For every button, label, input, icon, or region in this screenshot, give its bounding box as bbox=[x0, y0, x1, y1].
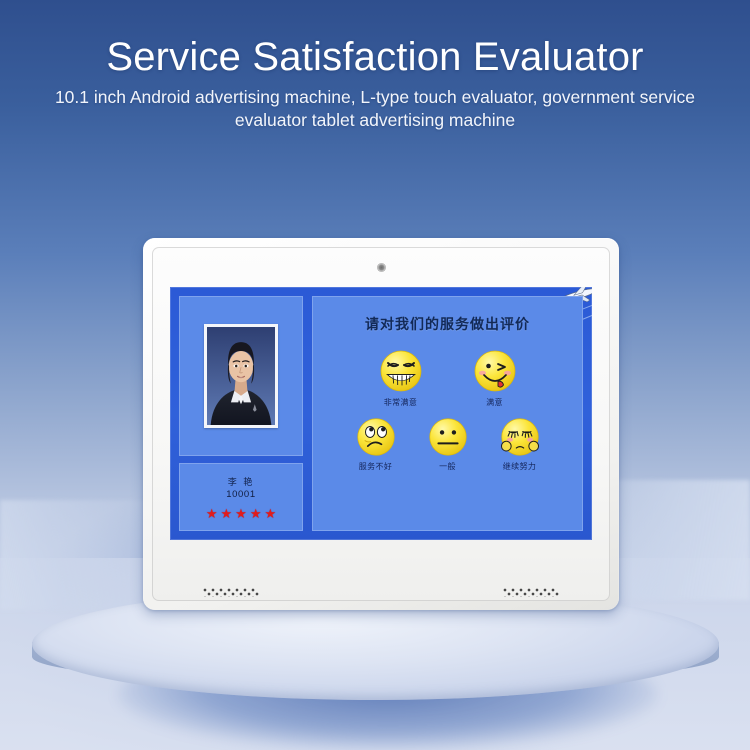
portrait-photo bbox=[207, 327, 275, 425]
rating-option-satisfied[interactable]: 满意 bbox=[472, 348, 518, 408]
photo-frame bbox=[204, 324, 278, 428]
rating-option-average[interactable]: 一般 bbox=[427, 416, 469, 472]
rating-option-keep-trying[interactable]: 继续努力 bbox=[499, 416, 541, 472]
rating-star: ★ bbox=[221, 507, 233, 520]
rating-option-label: 继续努力 bbox=[503, 461, 537, 472]
employee-photo-panel bbox=[179, 296, 303, 456]
rating-star: ★ bbox=[235, 507, 247, 520]
rating-panel: 请对我们的服务做出评价 bbox=[312, 296, 583, 531]
camera-dot-icon bbox=[377, 263, 386, 272]
winking-tongue-face-icon bbox=[472, 348, 518, 394]
rating-option-label: 满意 bbox=[486, 397, 503, 408]
speaker-grille-icon bbox=[503, 588, 559, 597]
speaker-grille-icon bbox=[203, 588, 259, 597]
rating-option-label: 服务不好 bbox=[359, 461, 393, 472]
rating-title: 请对我们的服务做出评价 bbox=[365, 314, 530, 334]
rating-option-very-satisfied[interactable]: 非常满意 bbox=[378, 348, 424, 408]
employee-info-panel: 李 艳 10001 ★★★★★ bbox=[179, 463, 303, 531]
page-subtitle: 10.1 inch Android advertising machine, L… bbox=[0, 86, 750, 132]
rating-star: ★ bbox=[264, 507, 276, 520]
rating-options-row-bottom: 服务不好 一般 bbox=[355, 416, 541, 472]
rating-star: ★ bbox=[206, 507, 218, 520]
rating-option-label: 非常满意 bbox=[384, 397, 418, 408]
tablet-screen: 李 艳 10001 ★★★★★ 请对我们的服务做出评价 bbox=[170, 287, 592, 540]
neutral-face-icon bbox=[427, 416, 469, 458]
rating-option-bad-service[interactable]: 服务不好 bbox=[355, 416, 397, 472]
header-block: Service Satisfaction Evaluator 10.1 inch… bbox=[0, 36, 750, 132]
rating-options-row-top: 非常满意 满意 bbox=[378, 348, 518, 408]
frowning-rolling-eyes-face-icon bbox=[355, 416, 397, 458]
employee-column: 李 艳 10001 ★★★★★ bbox=[179, 296, 303, 531]
employee-id: 10001 bbox=[226, 490, 255, 500]
rating-stars: ★★★★★ bbox=[206, 507, 276, 520]
product-marketing-scene: Service Satisfaction Evaluator 10.1 inch… bbox=[0, 0, 750, 750]
crying-face-icon bbox=[499, 416, 541, 458]
rating-star: ★ bbox=[250, 507, 262, 520]
employee-name: 李 艳 bbox=[228, 478, 255, 488]
rating-option-label: 一般 bbox=[439, 461, 456, 472]
grinning-face-icon bbox=[378, 348, 424, 394]
page-title: Service Satisfaction Evaluator bbox=[0, 36, 750, 79]
tablet-device: 李 艳 10001 ★★★★★ 请对我们的服务做出评价 bbox=[143, 238, 619, 610]
